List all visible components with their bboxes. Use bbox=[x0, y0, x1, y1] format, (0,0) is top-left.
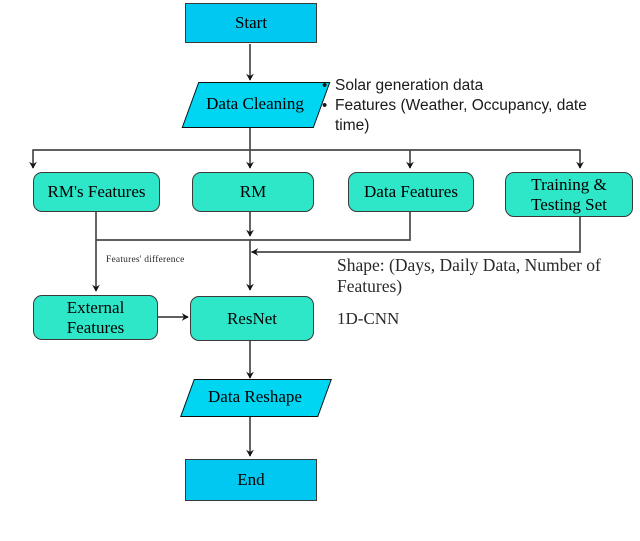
flowchart-canvas: Start Data Cleaning • Solar generation d… bbox=[0, 0, 640, 541]
node-data-cleaning-label: Data Cleaning bbox=[206, 94, 304, 113]
bullet-marker-icon: • bbox=[322, 76, 335, 95]
node-data-cleaning[interactable]: Data Cleaning bbox=[190, 82, 320, 126]
annotation-features-difference-text: Features' difference bbox=[106, 255, 185, 265]
node-start-label: Start bbox=[235, 13, 267, 32]
node-end-label: End bbox=[237, 470, 264, 489]
node-training-testing-set[interactable]: Training & Testing Set bbox=[505, 172, 633, 217]
node-resnet-label: ResNet bbox=[227, 309, 277, 328]
node-data-reshape-label: Data Reshape bbox=[208, 387, 302, 406]
annotation-shape-note-text: Shape: (Days, Daily Data, Number of Feat… bbox=[337, 255, 601, 296]
annotation-features-difference: Features' difference bbox=[106, 255, 185, 265]
node-training-testing-set-label-line2: Testing Set bbox=[531, 195, 607, 214]
node-rm[interactable]: RM bbox=[192, 172, 314, 212]
annotation-cnn-note: 1D-CNN bbox=[337, 309, 399, 329]
node-start[interactable]: Start bbox=[185, 3, 317, 43]
node-data-features-label: Data Features bbox=[364, 182, 458, 201]
edge-data-features-to-merge bbox=[250, 212, 410, 240]
bullet-marker-icon: • bbox=[322, 96, 335, 115]
node-external-features-label-line2: Features bbox=[67, 318, 125, 337]
node-data-features[interactable]: Data Features bbox=[348, 172, 474, 212]
node-external-features[interactable]: External Features bbox=[33, 295, 158, 340]
bullet-text: Features (Weather, Occupancy, date time) bbox=[335, 96, 602, 136]
bullet-item: • Solar generation data bbox=[322, 76, 602, 96]
bullet-item: • Features (Weather, Occupancy, date tim… bbox=[322, 96, 602, 136]
node-rm-label: RM bbox=[240, 182, 266, 201]
edge-training-testing-set-to-resnet bbox=[252, 212, 580, 252]
data-cleaning-bullets: • Solar generation data • Features (Weat… bbox=[322, 76, 602, 135]
node-resnet[interactable]: ResNet bbox=[190, 296, 314, 341]
bullet-text: Solar generation data bbox=[335, 76, 602, 96]
node-training-testing-set-label-line1: Training & bbox=[531, 175, 606, 194]
annotation-shape-note: Shape: (Days, Daily Data, Number of Feat… bbox=[337, 255, 637, 296]
node-rms-features-label: RM's Features bbox=[48, 182, 146, 201]
node-data-reshape[interactable]: Data Reshape bbox=[187, 379, 323, 415]
node-rms-features[interactable]: RM's Features bbox=[33, 172, 160, 212]
node-external-features-label-line1: External bbox=[67, 298, 125, 317]
annotation-cnn-note-text: 1D-CNN bbox=[337, 309, 399, 328]
node-end[interactable]: End bbox=[185, 459, 317, 501]
